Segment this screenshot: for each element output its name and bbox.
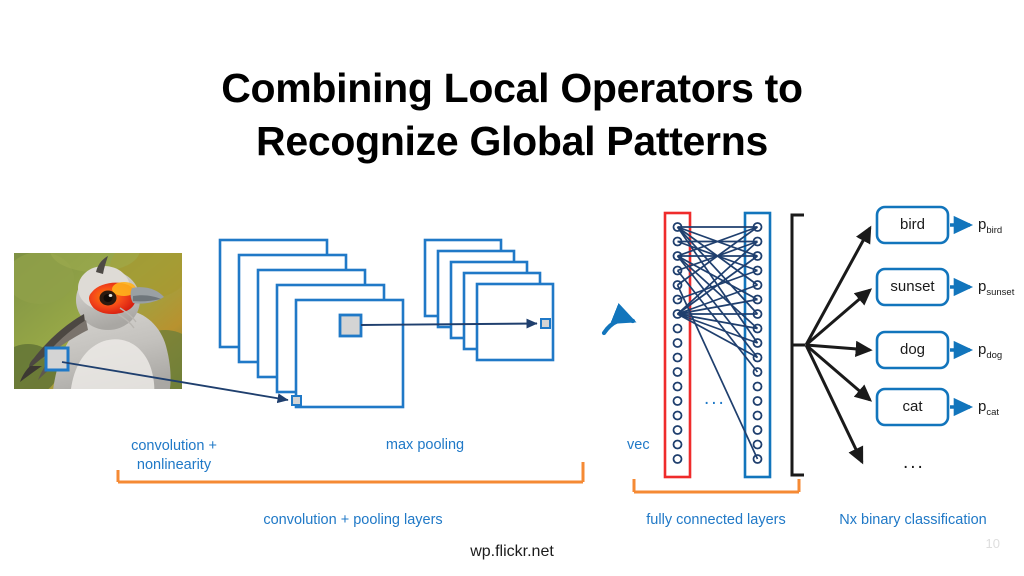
class-ellipsis: ... [903, 452, 925, 474]
prob-sub-sunset: sunset [986, 287, 1014, 298]
cnn-architecture-diagram [0, 0, 1024, 576]
prob-label-cat: pcat [978, 398, 999, 418]
prob-sub-bird: bird [986, 225, 1002, 236]
class-boxes[interactable] [877, 207, 948, 425]
class-label-sunset[interactable]: sunset [877, 278, 948, 295]
conv-stage-label: convolution + nonlinearity [118, 437, 230, 475]
input-image-photo [0, 228, 199, 400]
image-credit: wp.flickr.net [0, 543, 1024, 561]
conv-activation-cell [292, 396, 301, 405]
prob-sub-dog: dog [986, 350, 1002, 361]
page-number: 10 [986, 536, 1000, 551]
fully-connected-bracket-label: fully connected layers [626, 512, 806, 528]
prob-sub-cat: cat [986, 407, 999, 418]
conv-feature-map-stack [220, 240, 403, 407]
prob-label-dog: pdog [978, 341, 1002, 361]
prob-label-bird: pbird [978, 216, 1002, 236]
pooling-window-patch [340, 315, 361, 336]
fc-ellipsis: ... [704, 388, 726, 410]
vec-label: vec [627, 437, 650, 453]
class-label-cat[interactable]: cat [877, 398, 948, 415]
prob-label-sunset: psunset [978, 278, 1014, 298]
pooled-feature-map-stack [425, 240, 553, 360]
pooled-activation-cell [541, 319, 550, 328]
pooling-stage-label: max pooling [365, 437, 485, 453]
class-label-dog[interactable]: dog [877, 341, 948, 358]
fully-connected-bracket [634, 479, 799, 492]
probability-arrows [950, 225, 970, 407]
class-label-bird[interactable]: bird [877, 216, 948, 233]
conv-pooling-bracket-label: convolution + pooling layers [148, 512, 558, 528]
classification-bracket-label: Nx binary classification [818, 512, 1008, 528]
classification-fanout-arrows [806, 228, 870, 462]
pool-to-vec-arrow [604, 320, 633, 334]
slide-canvas: Combining Local Operators to Recognize G… [0, 0, 1024, 576]
input-patch-highlight [46, 348, 68, 370]
